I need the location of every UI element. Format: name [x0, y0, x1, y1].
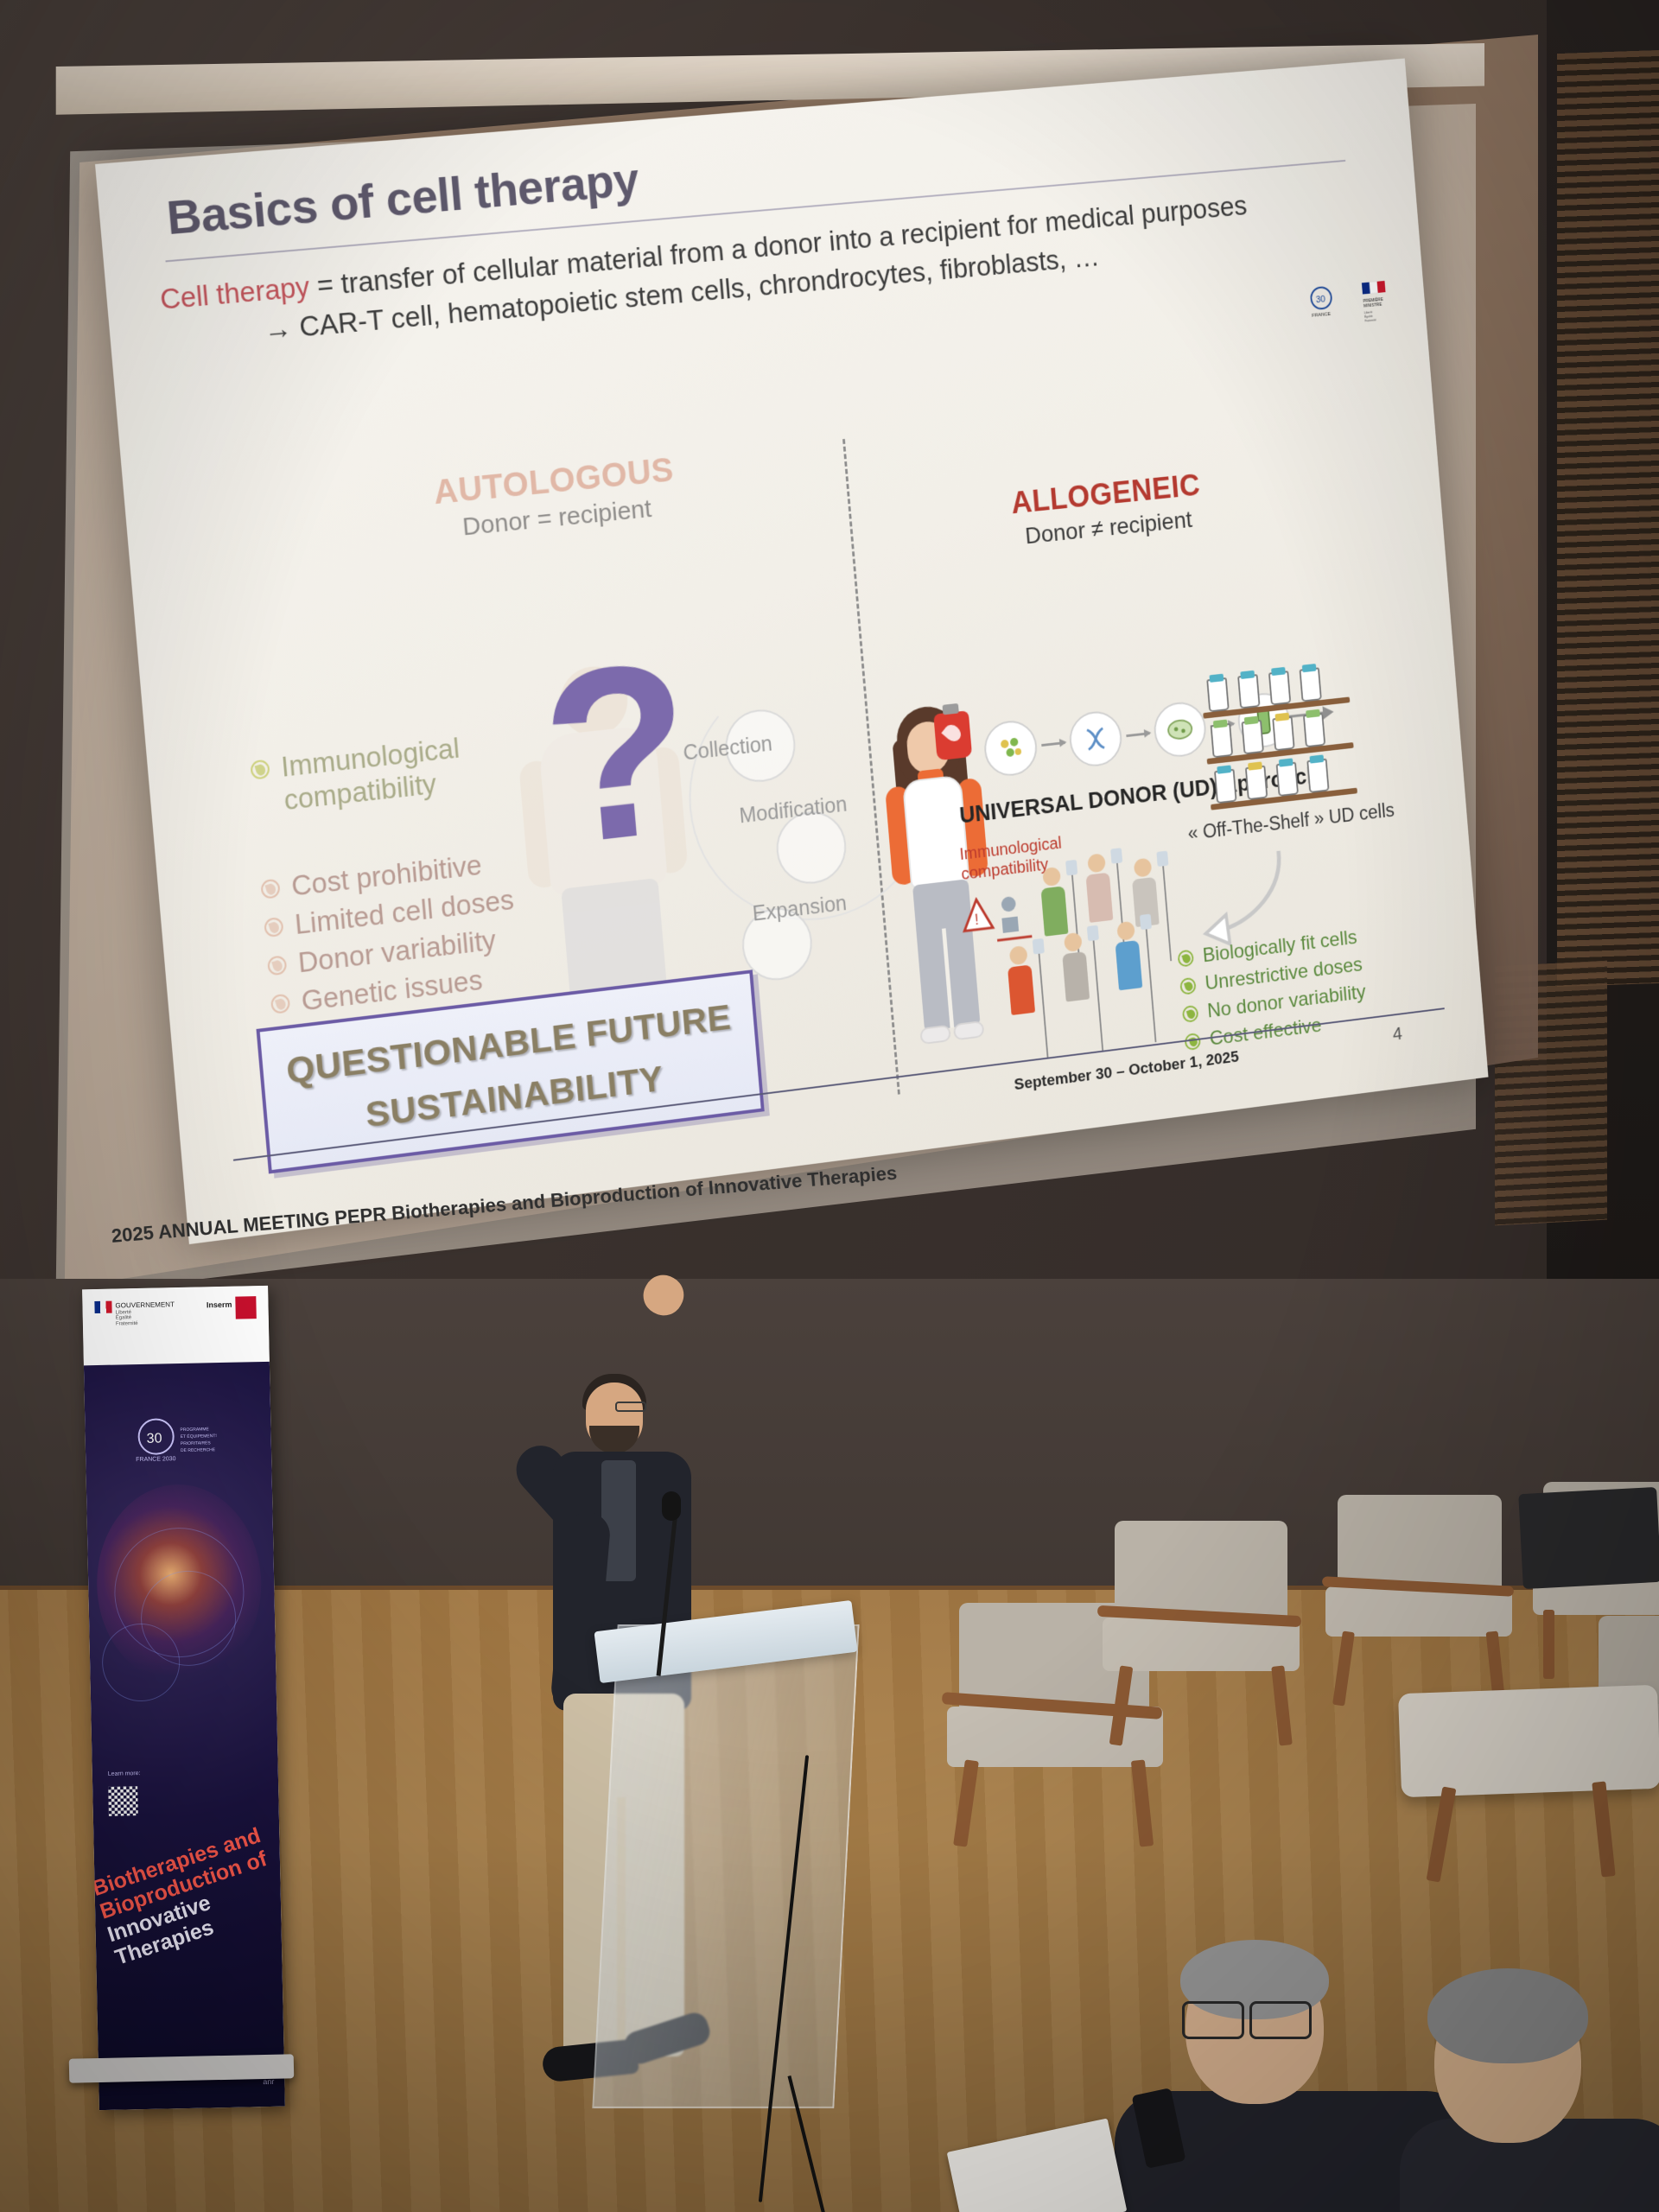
- svg-text:DE RECHERCHE: DE RECHERCHE: [181, 1447, 216, 1453]
- glasses-icon: [615, 1402, 646, 1412]
- banner-learn-more: Learn more:: [108, 1770, 141, 1777]
- wooden-slat-wall-upper: [1557, 50, 1659, 987]
- slide-logos: 30 FRANCE PREMIÈRE MINISTRE Liberté Égal…: [1308, 278, 1395, 337]
- auditorium-scene: Basics of cell therapy Cell therapy = tr…: [0, 0, 1659, 2212]
- leaf-bullet-icon: [260, 879, 280, 899]
- slide-title: Basics of cell therapy: [164, 151, 640, 245]
- blood-bag-icon: [933, 710, 972, 760]
- gene-edit-node-icon: [1067, 709, 1123, 768]
- banner-header: GOUVERNEMENT Liberté Égalité Fraternité …: [82, 1286, 270, 1365]
- microphone-icon: [662, 1491, 681, 1521]
- banner-gov-label: GOUVERNEMENT: [115, 1301, 175, 1310]
- french-flag-icon: [94, 1301, 111, 1313]
- svg-text:30: 30: [1316, 295, 1326, 305]
- svg-text:PROGRAMME: PROGRAMME: [180, 1427, 209, 1433]
- arrow-icon: →: [263, 311, 293, 345]
- marianne-mark: PREMIÈRE MINISTRE Liberté Égalité Frater…: [1360, 278, 1395, 328]
- culture-dish-node-icon: [1152, 700, 1208, 760]
- audio-speaker-box: [1518, 1487, 1659, 1589]
- svg-text:PRIORITAIRES: PRIORITAIRES: [181, 1440, 212, 1446]
- projected-slide: Basics of cell therapy Cell therapy = tr…: [95, 59, 1489, 1244]
- bench-seat: [1398, 1685, 1659, 1797]
- banner-title: Biotherapies and Bioproduction of Innova…: [90, 1821, 285, 1970]
- svg-text:30: 30: [147, 1431, 162, 1446]
- svg-text:MINISTRE: MINISTRE: [1363, 302, 1382, 309]
- svg-text:FRANCE 2030: FRANCE 2030: [136, 1456, 176, 1463]
- leaf-bullet-icon: [270, 993, 290, 1014]
- question-mark-icon: ?: [535, 624, 701, 883]
- inserm-label: Inserm: [207, 1300, 232, 1310]
- slide-page-number: 4: [1392, 1023, 1403, 1046]
- autologous-heading-group: AUTOLOGOUS Donor = recipient: [378, 446, 730, 550]
- vial-rack-illustration: [1199, 655, 1358, 818]
- inserm-logo-mark: [235, 1296, 257, 1319]
- france-2030-badge: 30 FRANCE 2030 PROGRAMME ET ÉQUIPEMENTS …: [130, 1413, 217, 1466]
- banner-base: [69, 2054, 295, 2082]
- cells-node-icon: [982, 718, 1039, 779]
- allogeneic-heading-group: ALLOGENEIC Donor ≠ recipient: [955, 462, 1258, 556]
- acrylic-lectern: [592, 1624, 859, 2108]
- leaf-bullet-icon: [250, 760, 270, 780]
- rollup-banner: GOUVERNEMENT Liberté Égalité Fraternité …: [82, 1286, 285, 2110]
- leaf-bullet-icon: [267, 955, 287, 976]
- definition-equals: =: [315, 269, 334, 302]
- qr-code-icon[interactable]: [108, 1786, 138, 1816]
- banner-artwork: 30 FRANCE 2030 PROGRAMME ET ÉQUIPEMENTS …: [84, 1362, 285, 2110]
- svg-text:FRANCE: FRANCE: [1312, 312, 1331, 319]
- leaf-bullet-icon: [264, 917, 283, 938]
- armchair: [1097, 1521, 1339, 1806]
- premier-ministre-logo: PREMIÈRE MINISTRE Liberté Égalité Frater…: [1360, 278, 1395, 332]
- svg-text:Fraternité: Fraternité: [1364, 318, 1376, 322]
- svg-text:ET ÉQUIPEMENTS: ET ÉQUIPEMENTS: [181, 1433, 218, 1440]
- france-2030-mark: 30 FRANCE: [1308, 283, 1351, 322]
- france-2030-logo: 30 FRANCE: [1308, 283, 1351, 326]
